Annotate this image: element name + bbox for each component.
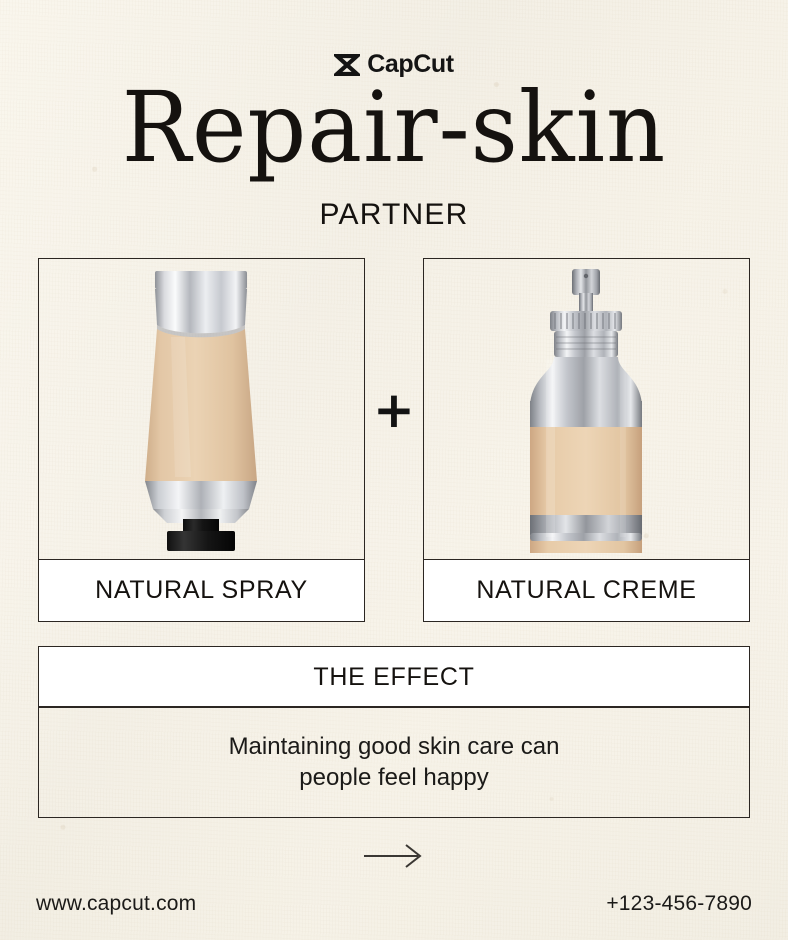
- product-label-box-right: NATURAL CREME: [423, 559, 750, 622]
- footer-phone[interactable]: +123-456-7890: [606, 892, 752, 916]
- footer-website[interactable]: www.capcut.com: [36, 892, 196, 916]
- cta-arrow[interactable]: [0, 843, 788, 869]
- effect-text-line1: Maintaining good skin care can: [229, 733, 560, 760]
- effect-text-line2: people feel happy: [299, 764, 489, 791]
- effect-heading: THE EFFECT: [313, 663, 474, 692]
- arrow-right-icon: [362, 843, 426, 869]
- product-image-frame-left: [38, 258, 365, 561]
- poster-canvas: CapCut Repair-skin PARTNER: [0, 0, 788, 940]
- product-card-creme[interactable]: NATURAL CREME: [423, 258, 750, 623]
- cosmetic-tube-icon: [39, 259, 363, 559]
- page-subtitle: PARTNER: [0, 198, 788, 232]
- footer: www.capcut.com +123-456-7890: [36, 892, 752, 916]
- effect-heading-box: THE EFFECT: [38, 646, 750, 708]
- product-image-frame-right: [423, 258, 750, 561]
- product-label-spray: NATURAL SPRAY: [95, 576, 308, 605]
- product-card-spray[interactable]: NATURAL SPRAY: [38, 258, 365, 623]
- page-title: Repair-skin: [0, 79, 788, 177]
- spray-bottle-icon: [424, 259, 748, 559]
- product-card-group: NATURAL SPRAY +: [38, 258, 750, 623]
- product-label-box-left: NATURAL SPRAY: [38, 559, 365, 622]
- effect-body-box: Maintaining good skin care can people fe…: [38, 706, 750, 818]
- plus-icon: +: [365, 258, 423, 561]
- product-label-creme: NATURAL CREME: [476, 576, 696, 605]
